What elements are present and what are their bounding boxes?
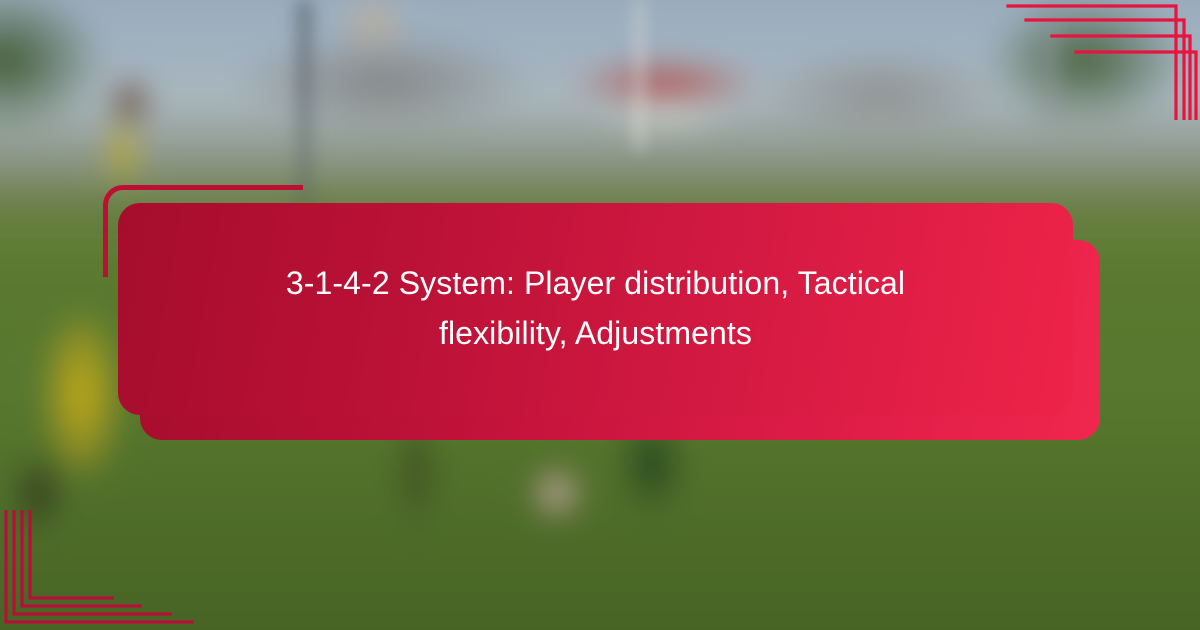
banner-stage: 3-1-4-2 System: Player distribution, Tac… <box>0 0 1200 630</box>
title-container: 3-1-4-2 System: Player distribution, Tac… <box>118 203 1073 415</box>
page-title: 3-1-4-2 System: Player distribution, Tac… <box>226 259 966 358</box>
corner-lines-bottom-left-icon <box>0 510 200 630</box>
corner-lines-top-right-icon <box>1000 0 1200 120</box>
